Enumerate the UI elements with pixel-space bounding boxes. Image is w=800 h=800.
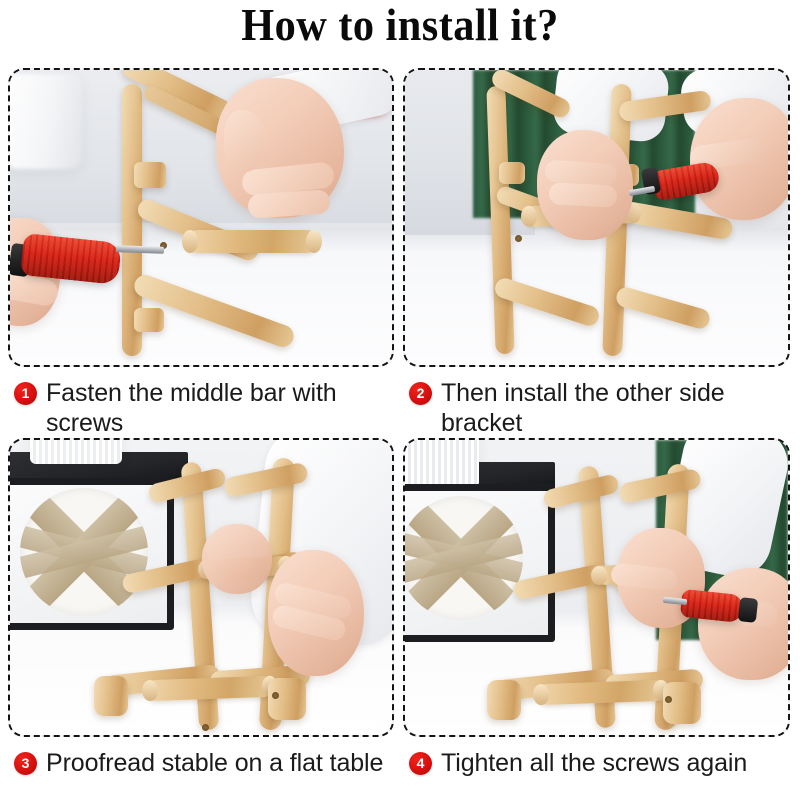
round-plate-x-pattern [20, 488, 148, 616]
step-cell-4: 4 Tighten all the screws again [403, 438, 790, 743]
step-photo-2 [403, 68, 790, 367]
hand-behind-rack [202, 524, 272, 594]
rack-foot-right [663, 682, 701, 724]
rack-foot-left [94, 676, 128, 716]
step-photo-4 [403, 438, 790, 737]
screw-hole-base [202, 724, 209, 731]
round-plate-x-pattern [403, 496, 523, 620]
caption-3: 3 Proofread stable on a flat table [14, 748, 400, 778]
caption-4: 4 Tighten all the screws again [409, 748, 796, 778]
step-badge-2: 2 [409, 382, 432, 405]
screw-hole-lower [272, 692, 279, 699]
scene-4 [405, 440, 788, 735]
white-pot [403, 438, 479, 488]
middle-bar [186, 230, 318, 253]
scene-1 [10, 70, 392, 365]
step-badge-3: 3 [14, 752, 37, 775]
wood-bracket-left-notch [499, 162, 525, 184]
wood-bracket-notch-lower [134, 308, 164, 332]
white-pot [30, 438, 122, 464]
rack-rail-bottom [537, 680, 666, 705]
thumb [224, 110, 264, 172]
caption-text-4: Tighten all the screws again [441, 748, 747, 778]
step-cell-3: 3 Proofread stable on a flat table [8, 438, 394, 743]
screw-hole-left [515, 235, 522, 242]
step-cell-2: 2 Then install the other side bracket [403, 68, 790, 373]
caption-1: 1 Fasten the middle bar with screws [14, 378, 400, 438]
finger-left-2 [548, 182, 617, 208]
steps-grid: 1 Fasten the middle bar with screws [0, 62, 800, 800]
white-pot [8, 74, 82, 169]
scene-3 [10, 440, 392, 735]
step-badge-1: 1 [14, 382, 37, 405]
caption-text-1: Fasten the middle bar with screws [46, 378, 400, 438]
page-title: How to install it? [32, 0, 768, 52]
caption-2: 2 Then install the other side bracket [409, 378, 796, 438]
screw-hole-lower [665, 696, 672, 703]
step-badge-4: 4 [409, 752, 432, 775]
caption-text-3: Proofread stable on a flat table [46, 748, 383, 778]
step-cell-1: 1 Fasten the middle bar with screws [8, 68, 394, 373]
screwdriver-cap [738, 597, 758, 623]
scene-2 [405, 70, 788, 365]
rack-rail-bottom [146, 676, 275, 701]
step-photo-3 [8, 438, 394, 737]
caption-text-2: Then install the other side bracket [441, 378, 796, 438]
wood-bracket-notch [134, 162, 166, 188]
step-photo-1 [8, 68, 394, 367]
rack-foot-right [268, 678, 306, 720]
rack-foot-left [487, 680, 521, 720]
